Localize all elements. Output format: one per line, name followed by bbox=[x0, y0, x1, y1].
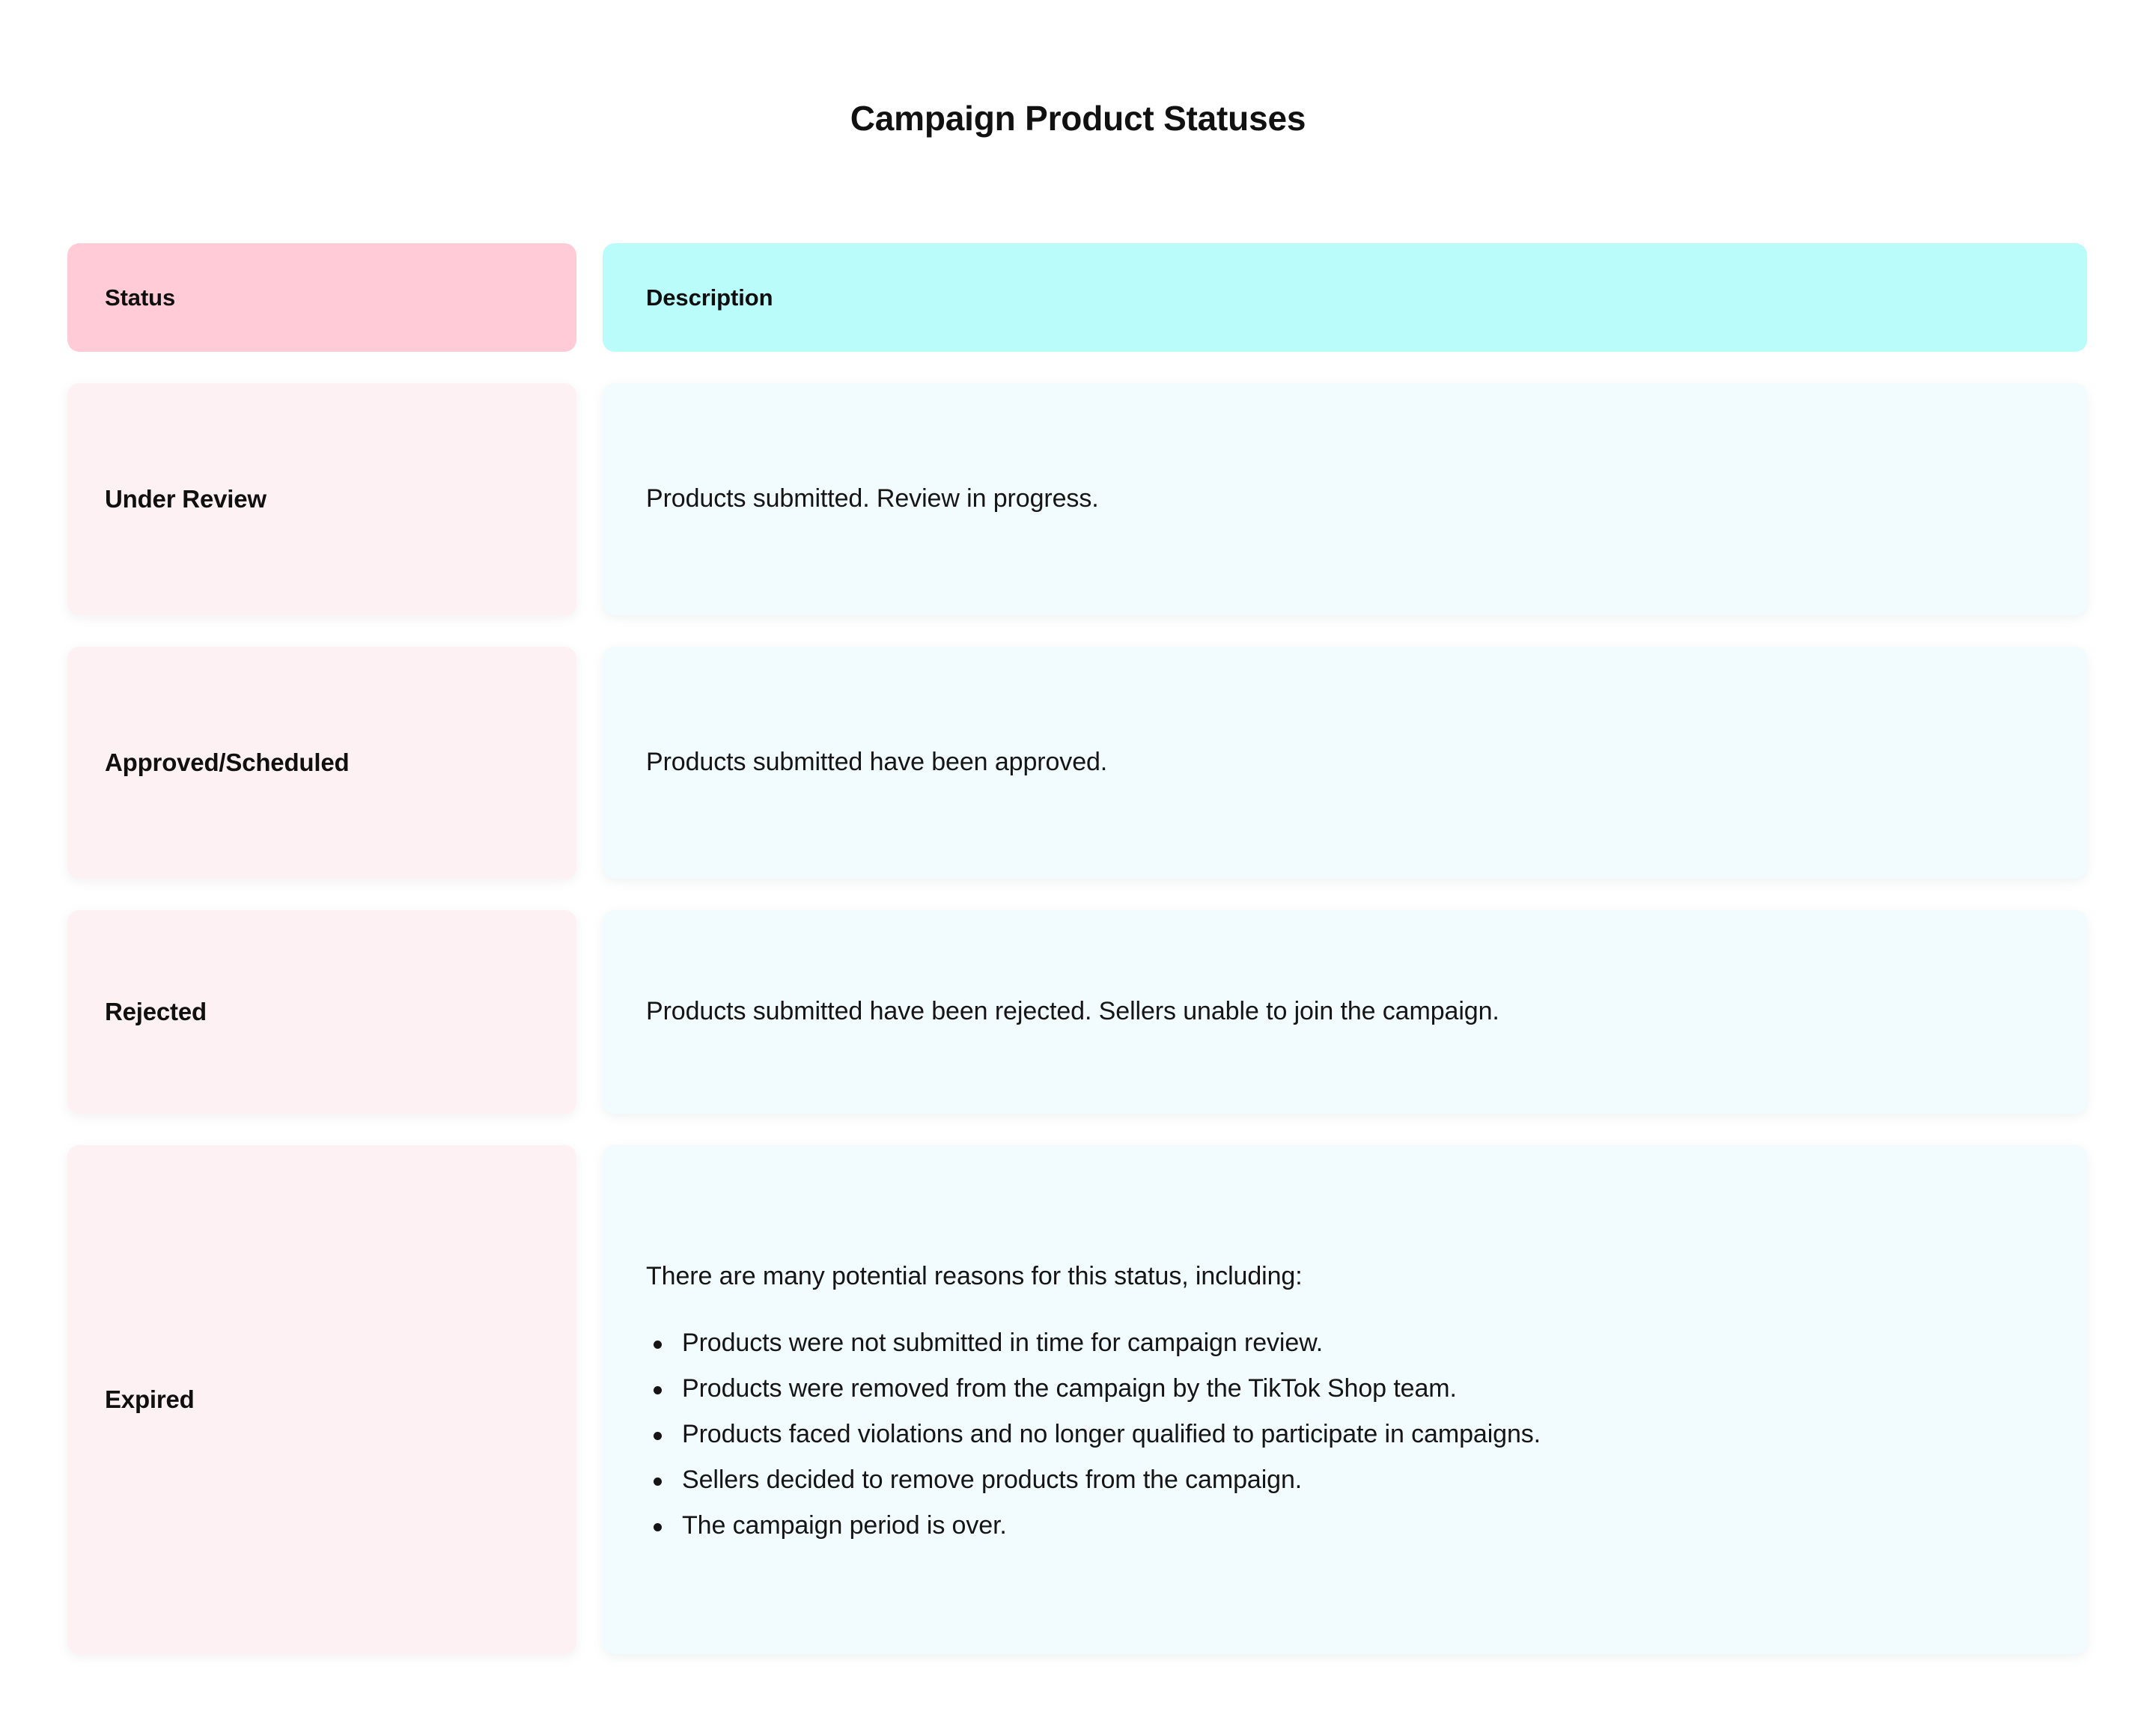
table-header-row: Status Description bbox=[67, 243, 2087, 352]
list-item: Products were not submitted in time for … bbox=[646, 1330, 2042, 1355]
expired-reasons-list: Products were not submitted in time for … bbox=[646, 1330, 2042, 1538]
description-cell-expired: There are many potential reasons for thi… bbox=[603, 1145, 2087, 1654]
page-title: Campaign Product Statuses bbox=[0, 97, 2156, 141]
status-label: Rejected bbox=[105, 998, 207, 1026]
description-text: Products submitted. Review in progress. bbox=[646, 481, 2042, 517]
description-cell-approved-scheduled: Products submitted have been approved. bbox=[603, 647, 2087, 879]
column-header-description: Description bbox=[646, 284, 2042, 311]
list-item: Products were removed from the campaign … bbox=[646, 1376, 2042, 1401]
description-text: Products submitted have been rejected. S… bbox=[646, 993, 2042, 1030]
table-row: Rejected Products submitted have been re… bbox=[67, 910, 2087, 1114]
description-intro-text: There are many potential reasons for thi… bbox=[646, 1262, 2042, 1291]
list-item: Products faced violations and no longer … bbox=[646, 1421, 2042, 1447]
table-row: Under Review Products submitted. Review … bbox=[67, 383, 2087, 615]
list-item: The campaign period is over. bbox=[646, 1513, 2042, 1538]
table-row: Expired There are many potential reasons… bbox=[67, 1145, 2087, 1654]
status-cell-under-review: Under Review bbox=[67, 383, 576, 615]
status-cell-rejected: Rejected bbox=[67, 910, 576, 1114]
page-root: Campaign Product Statuses Status Descrip… bbox=[0, 0, 2156, 1723]
status-table: Status Description Under Review Products… bbox=[67, 243, 2087, 1654]
table-row: Approved/Scheduled Products submitted ha… bbox=[67, 647, 2087, 879]
column-header-status: Status bbox=[105, 284, 175, 311]
description-cell-rejected: Products submitted have been rejected. S… bbox=[603, 910, 2087, 1114]
status-label: Under Review bbox=[105, 485, 267, 513]
status-cell-expired: Expired bbox=[67, 1145, 576, 1654]
list-item: Sellers decided to remove products from … bbox=[646, 1467, 2042, 1492]
status-label: Expired bbox=[105, 1385, 195, 1414]
description-cell-under-review: Products submitted. Review in progress. bbox=[603, 383, 2087, 615]
header-cell-status: Status bbox=[67, 243, 576, 352]
description-text: Products submitted have been approved. bbox=[646, 744, 2042, 781]
header-cell-description: Description bbox=[603, 243, 2087, 352]
status-cell-approved-scheduled: Approved/Scheduled bbox=[67, 647, 576, 879]
status-label: Approved/Scheduled bbox=[105, 748, 349, 777]
